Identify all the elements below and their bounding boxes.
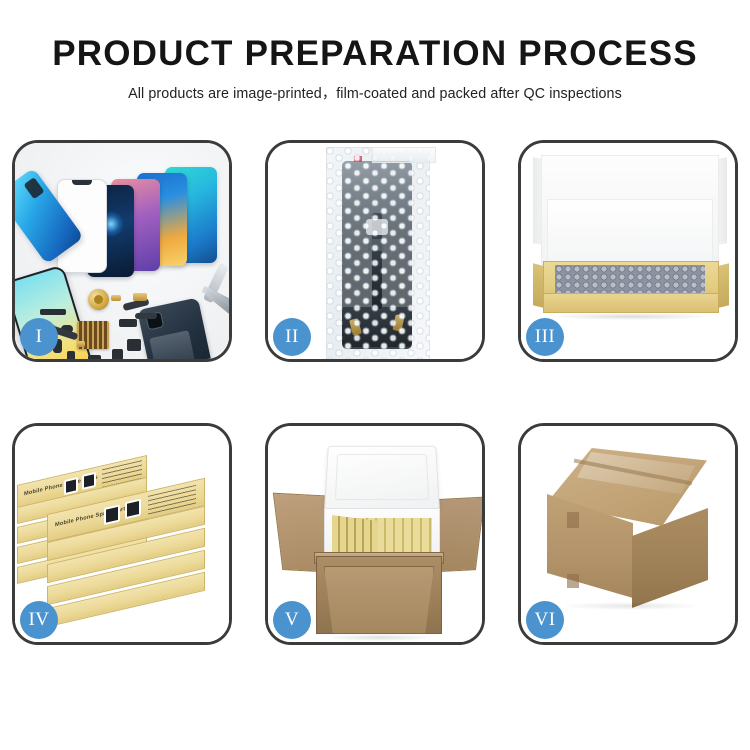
step-panel-i: I [12, 140, 232, 362]
product-preparation-infographic: PRODUCT PREPARATION PROCESS All products… [0, 0, 750, 750]
carton-right-face [632, 508, 708, 608]
bag-flap [372, 147, 436, 163]
gold-connector-icon [133, 293, 147, 301]
page-title: PRODUCT PREPARATION PROCESS [52, 36, 698, 73]
step-panel-ii: II [265, 140, 485, 362]
carton-shadow [326, 634, 434, 641]
yellow-box-front [543, 293, 719, 313]
carton-tape-tab-upper [567, 512, 579, 528]
step-badge-iv: IV [20, 601, 58, 639]
part-small-icon [112, 349, 123, 359]
white-foam-sheet [547, 199, 713, 265]
bubble-bag [326, 147, 430, 359]
carton-tape-tab-lower [567, 574, 579, 588]
step-badge-iii: III [526, 318, 564, 356]
step-panel-iii: III [518, 140, 738, 362]
part-small-icon [119, 319, 137, 327]
step-badge-ii: II [273, 318, 311, 356]
gold-connector-icon [77, 341, 85, 347]
step-badge-v: V [273, 601, 311, 639]
flex-cable-icon [135, 313, 157, 319]
carton-shadow [561, 602, 701, 610]
header: PRODUCT PREPARATION PROCESS All products… [0, 0, 750, 120]
gold-coil-icon [88, 289, 109, 310]
box-shadow [551, 313, 711, 320]
step-panel-v: V [265, 423, 485, 645]
step-badge-i: I [20, 318, 58, 356]
screen-thumb-icon [82, 472, 96, 490]
carton-front-panel [324, 566, 434, 634]
speaker-part-icon [88, 355, 101, 359]
gold-connector-icon [111, 295, 121, 301]
foam-lid [324, 446, 440, 511]
page-subtitle: All products are image-printed，film-coat… [128, 82, 622, 103]
steps-grid: I [12, 140, 738, 668]
part-small-icon [127, 339, 141, 351]
step-panel-vi: VI [518, 423, 738, 645]
step-panel-iv: Mobile Phone Spare Parts Mobile Ph [12, 423, 232, 645]
grey-bubble-wrap [555, 265, 705, 295]
bubble-wrap-texture [326, 147, 430, 359]
part-strip-icon [40, 309, 66, 315]
notch-icon [72, 180, 92, 185]
step-badge-vi: VI [526, 601, 564, 639]
part-small-icon [67, 351, 75, 359]
battery-icon [149, 330, 196, 359]
